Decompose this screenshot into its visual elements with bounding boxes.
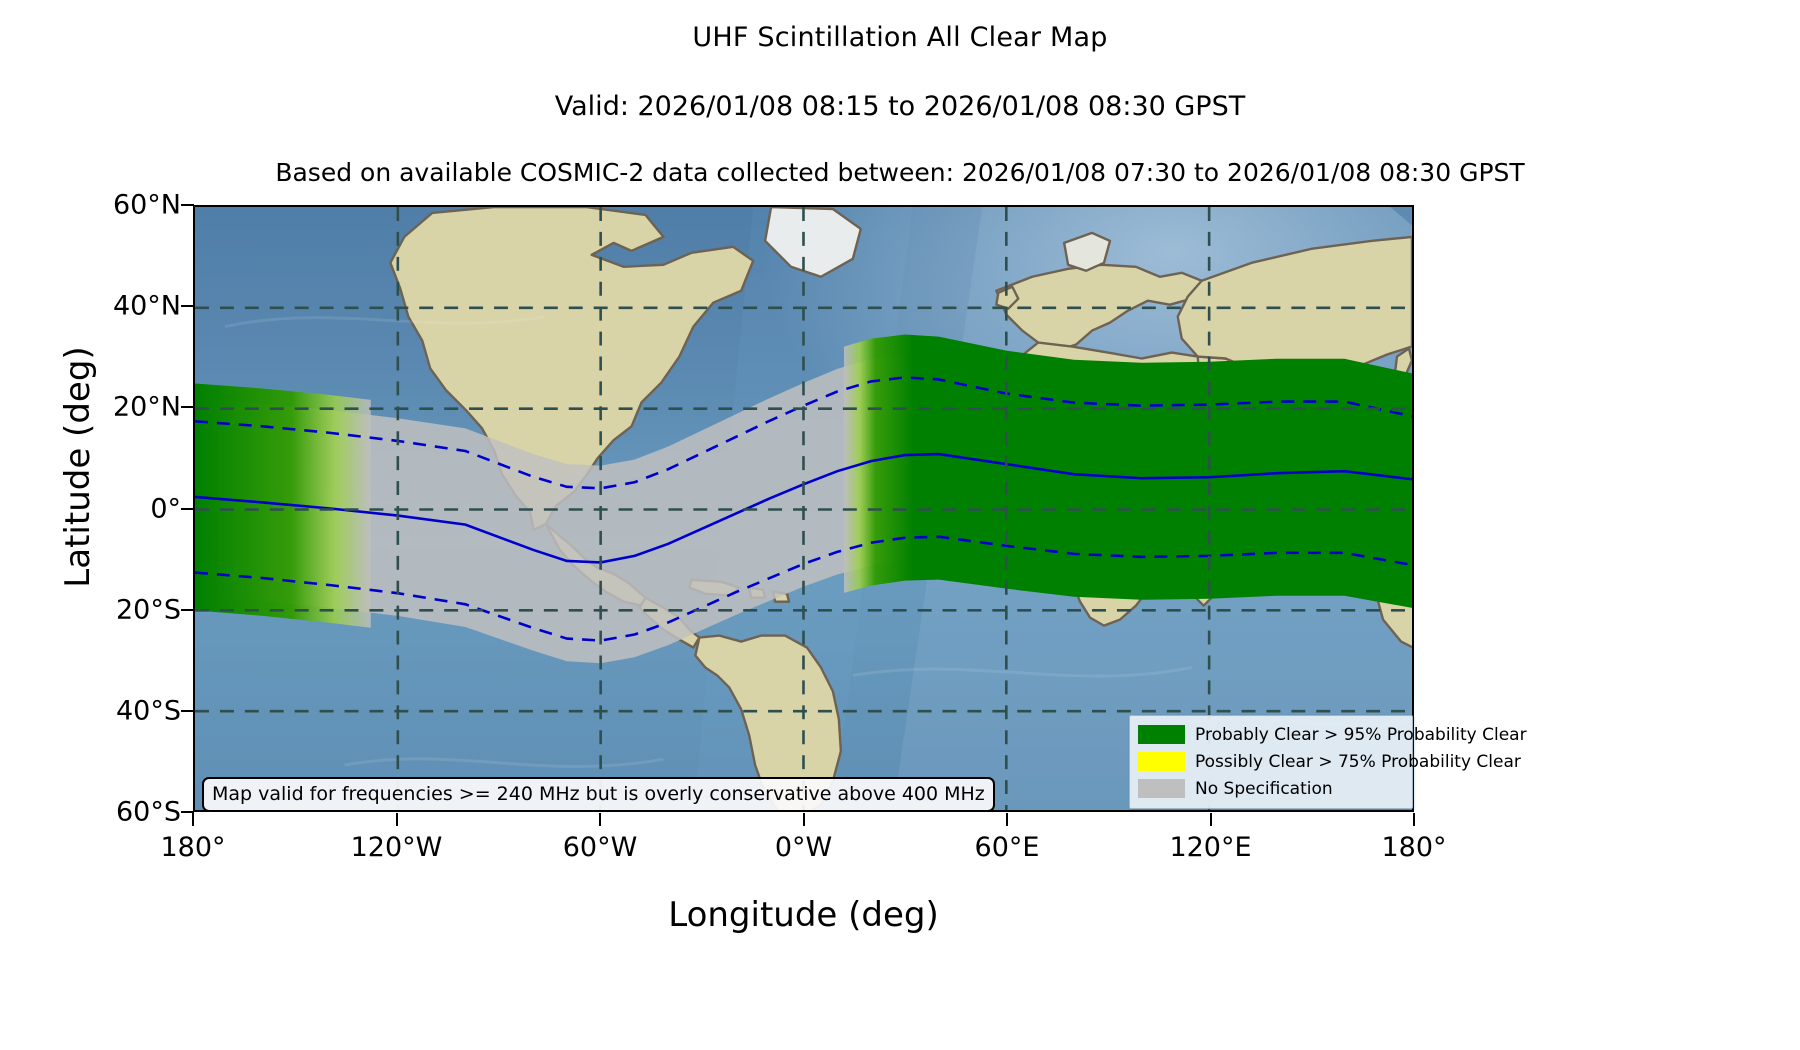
legend-item: Possibly Clear > 75% Probability Clear [1138, 748, 1404, 775]
legend-label: No Specification [1195, 779, 1333, 799]
x-tick-mark [192, 813, 194, 826]
scintillation-map-page: UHF Scintillation All Clear Map Valid: 2… [0, 0, 1800, 1050]
x-tick-mark [599, 813, 601, 826]
map-legend[interactable]: Probably Clear > 95% Probability Clear P… [1129, 715, 1413, 809]
page-title: UHF Scintillation All Clear Map [0, 22, 1800, 53]
x-tick-label: 180° [1294, 832, 1534, 863]
y-tick-label: 20°S [0, 594, 181, 625]
x-axis-label: Longitude (deg) [193, 895, 1414, 935]
y-tick-label: 0° [0, 493, 181, 524]
legend-label: Probably Clear > 95% Probability Clear [1195, 725, 1527, 745]
data-source-subtitle: Based on available COSMIC-2 data collect… [0, 158, 1800, 187]
x-tick-mark [1210, 813, 1212, 826]
legend-label: Possibly Clear > 75% Probability Clear [1195, 752, 1521, 772]
valid-subtitle: Valid: 2026/01/08 08:15 to 2026/01/08 08… [0, 91, 1800, 122]
x-tick-mark [803, 813, 805, 826]
legend-item: Probably Clear > 95% Probability Clear [1138, 721, 1404, 748]
y-tick-label: 60°N [0, 190, 181, 221]
y-tick-label: 40°N [0, 291, 181, 322]
legend-swatch-probably-clear [1138, 725, 1185, 744]
frequency-validity-note: Map valid for frequencies >= 240 MHz but… [202, 777, 995, 812]
x-tick-mark [396, 813, 398, 826]
legend-item: No Specification [1138, 775, 1404, 802]
legend-swatch-possibly-clear [1138, 752, 1185, 771]
x-tick-mark [1413, 813, 1415, 826]
legend-swatch-no-specification [1138, 779, 1185, 798]
x-tick-mark [1006, 813, 1008, 826]
y-tick-label: 20°N [0, 392, 181, 423]
y-tick-label: 40°S [0, 695, 181, 726]
y-tick-label: 60°S [0, 797, 181, 828]
y-axis-label: Latitude (deg) [58, 157, 98, 777]
